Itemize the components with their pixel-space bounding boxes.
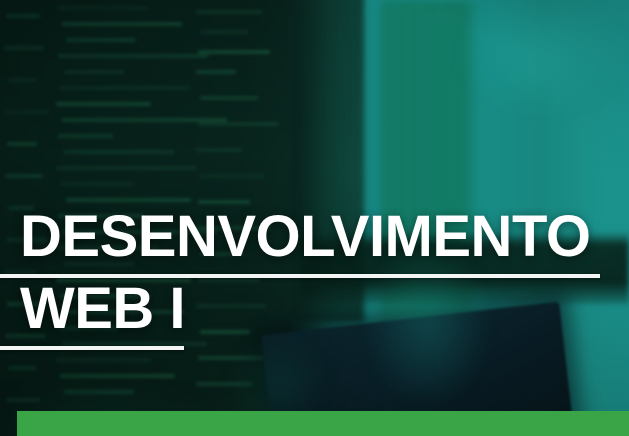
title-line-primary: DESENVOLVIMENTO (0, 206, 629, 278)
title-text-secondary: WEB I (0, 278, 629, 340)
title-slide: DESENVOLVIMENTO WEB I (0, 0, 629, 436)
title-line-secondary: WEB I (0, 278, 629, 350)
title-underline-secondary (0, 346, 184, 350)
bottom-accent-bar (17, 411, 629, 436)
page-title: DESENVOLVIMENTO WEB I (0, 206, 629, 350)
title-text-primary: DESENVOLVIMENTO (0, 206, 629, 268)
